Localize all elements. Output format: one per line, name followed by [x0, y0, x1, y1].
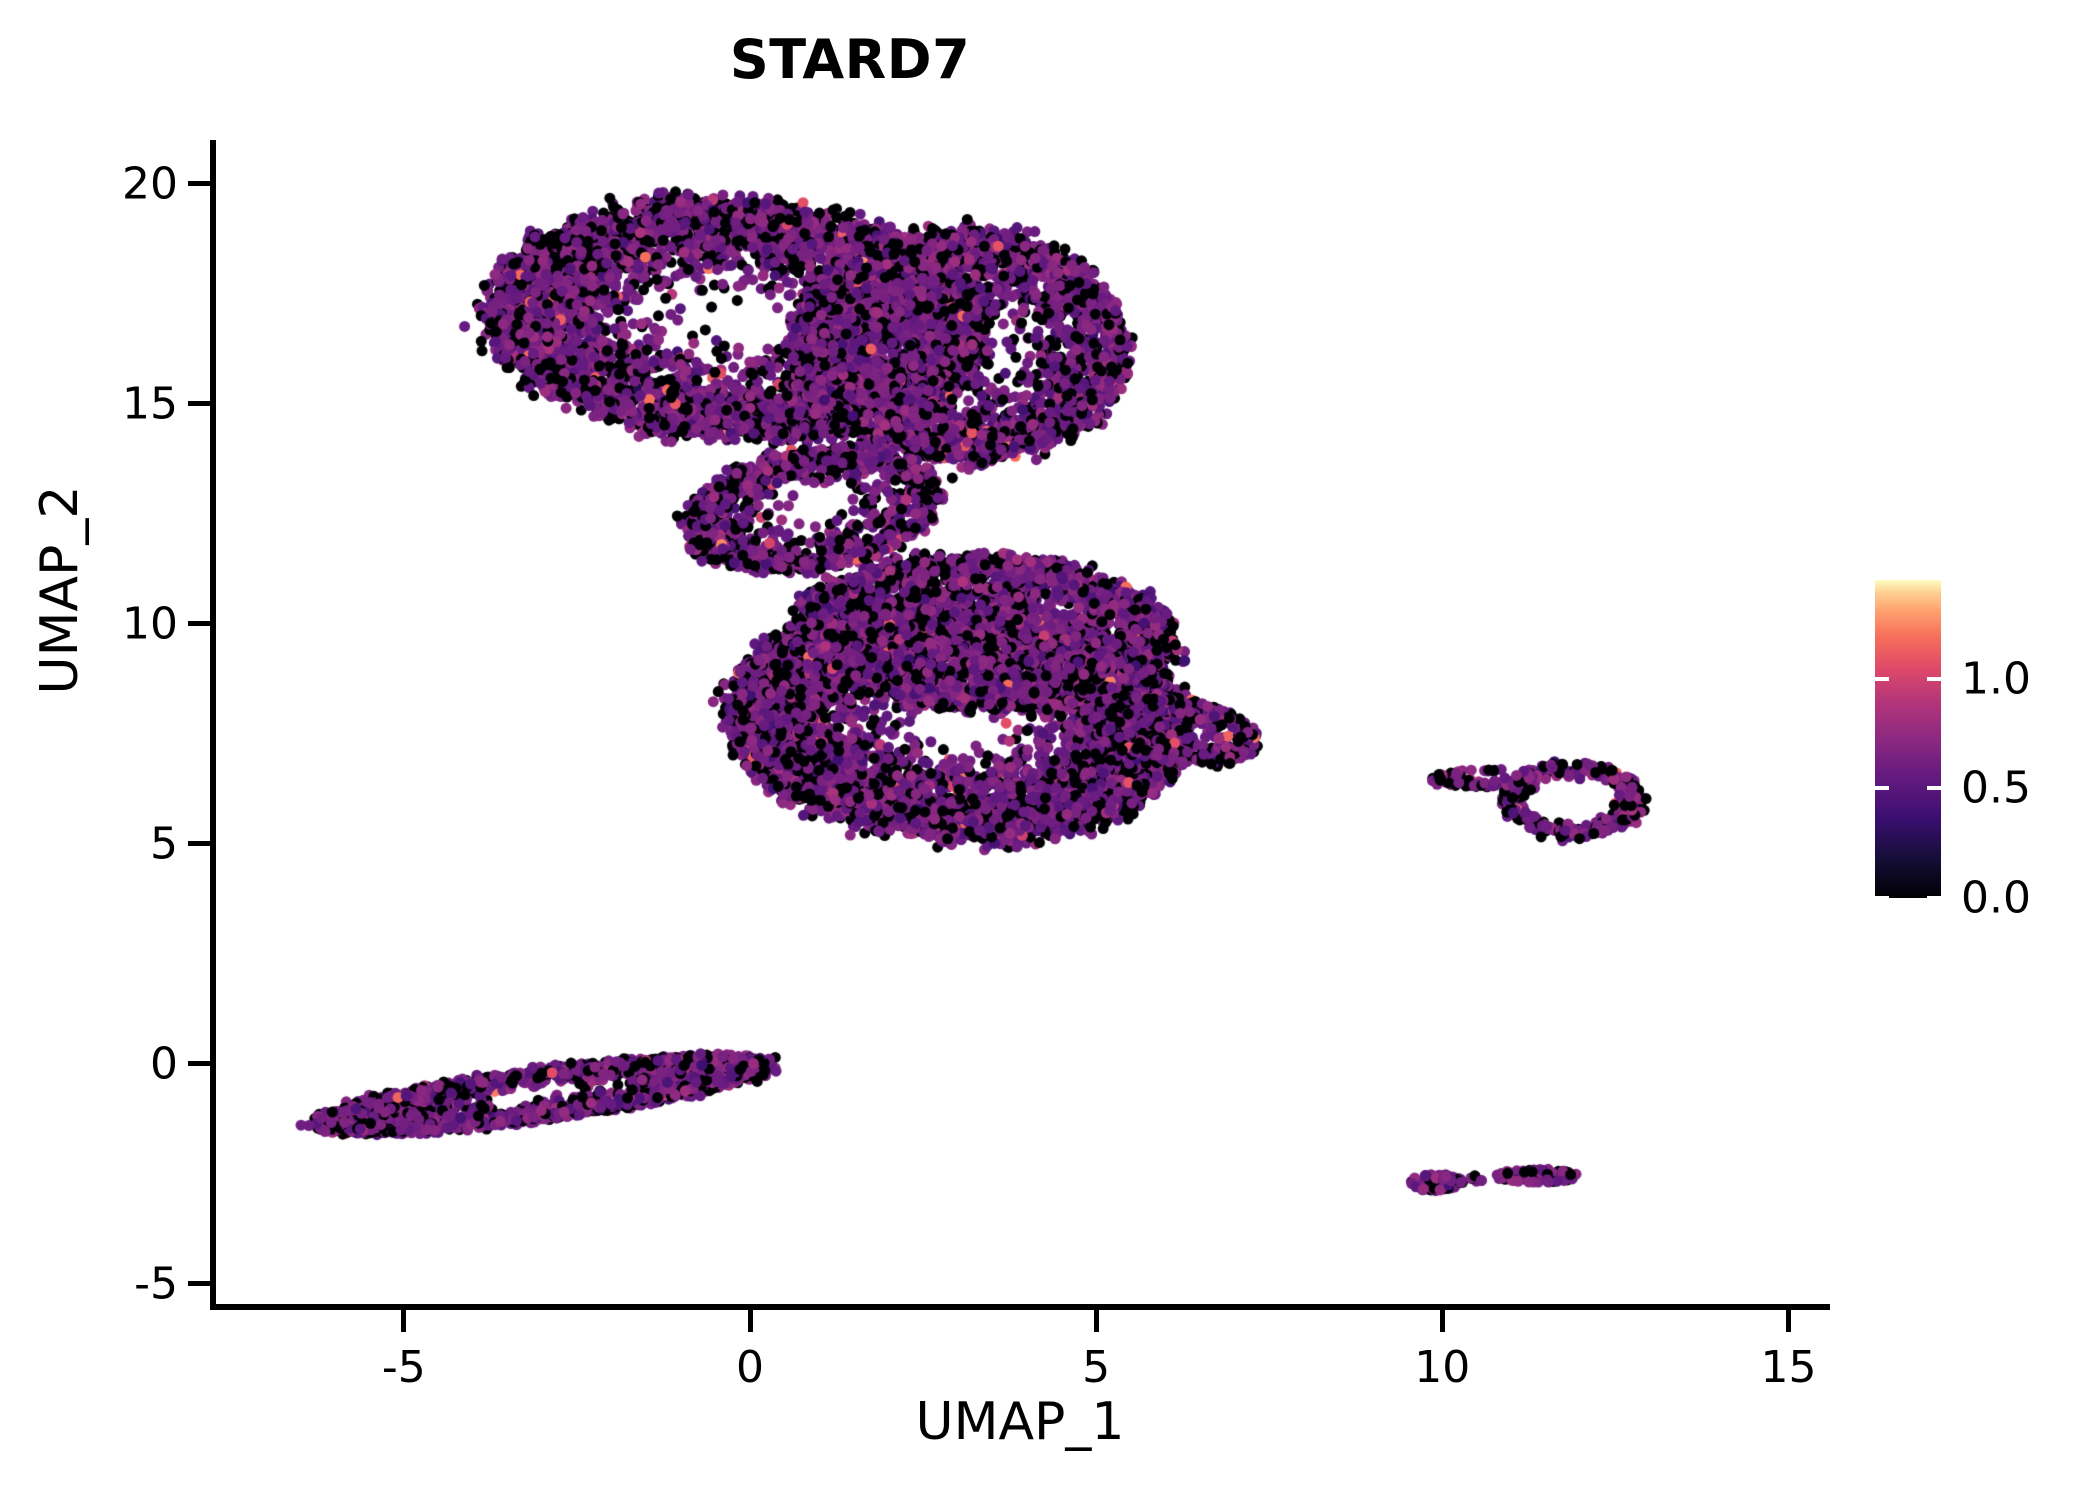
y-axis-label: UMAP_2 — [30, 210, 90, 970]
y-tick-label: 0 — [150, 1038, 178, 1089]
colorbar-tick-label: 0.5 — [1961, 763, 2031, 814]
y-tick-label: 20 — [122, 158, 178, 209]
y-tick-mark — [188, 1061, 210, 1066]
plot-axes: -505101520 -5051015 — [210, 140, 1830, 1310]
x-tick-label: 0 — [736, 1342, 764, 1393]
y-axis-spine — [210, 140, 216, 1310]
x-axis-spine — [210, 1304, 1830, 1310]
x-tick-label: -5 — [382, 1342, 426, 1393]
x-tick-mark — [748, 1310, 753, 1332]
scatter-points-canvas — [210, 140, 1830, 1310]
x-tick-mark — [1440, 1310, 1445, 1332]
page-title: STARD7 — [0, 28, 1700, 91]
x-axis-label: UMAP_1 — [210, 1392, 1830, 1452]
y-tick-label: -5 — [134, 1258, 178, 1309]
x-tick-label: 15 — [1760, 1342, 1816, 1393]
x-tick-label: 10 — [1414, 1342, 1470, 1393]
x-tick-label: 5 — [1082, 1342, 1110, 1393]
y-tick-label: 10 — [122, 598, 178, 649]
y-tick-mark — [188, 841, 210, 846]
x-tick-mark — [1094, 1310, 1099, 1332]
x-tick-mark — [401, 1310, 406, 1332]
y-tick-mark — [188, 181, 210, 186]
umap-feature-plot: STARD7 -505101520 -5051015 UMAP_1 UMAP_2… — [0, 0, 2100, 1500]
colorbar-gradient — [1875, 580, 1941, 898]
y-tick-mark — [188, 621, 210, 626]
colorbar-tick-label: 1.0 — [1961, 653, 2031, 704]
y-tick-mark — [188, 1281, 210, 1286]
x-tick-mark — [1786, 1310, 1791, 1332]
colorbar: 0.00.51.0 — [1875, 580, 2095, 910]
y-tick-mark — [188, 401, 210, 406]
y-tick-label: 5 — [150, 818, 178, 869]
y-tick-label: 15 — [122, 378, 178, 429]
colorbar-tick-label: 0.0 — [1961, 873, 2031, 924]
